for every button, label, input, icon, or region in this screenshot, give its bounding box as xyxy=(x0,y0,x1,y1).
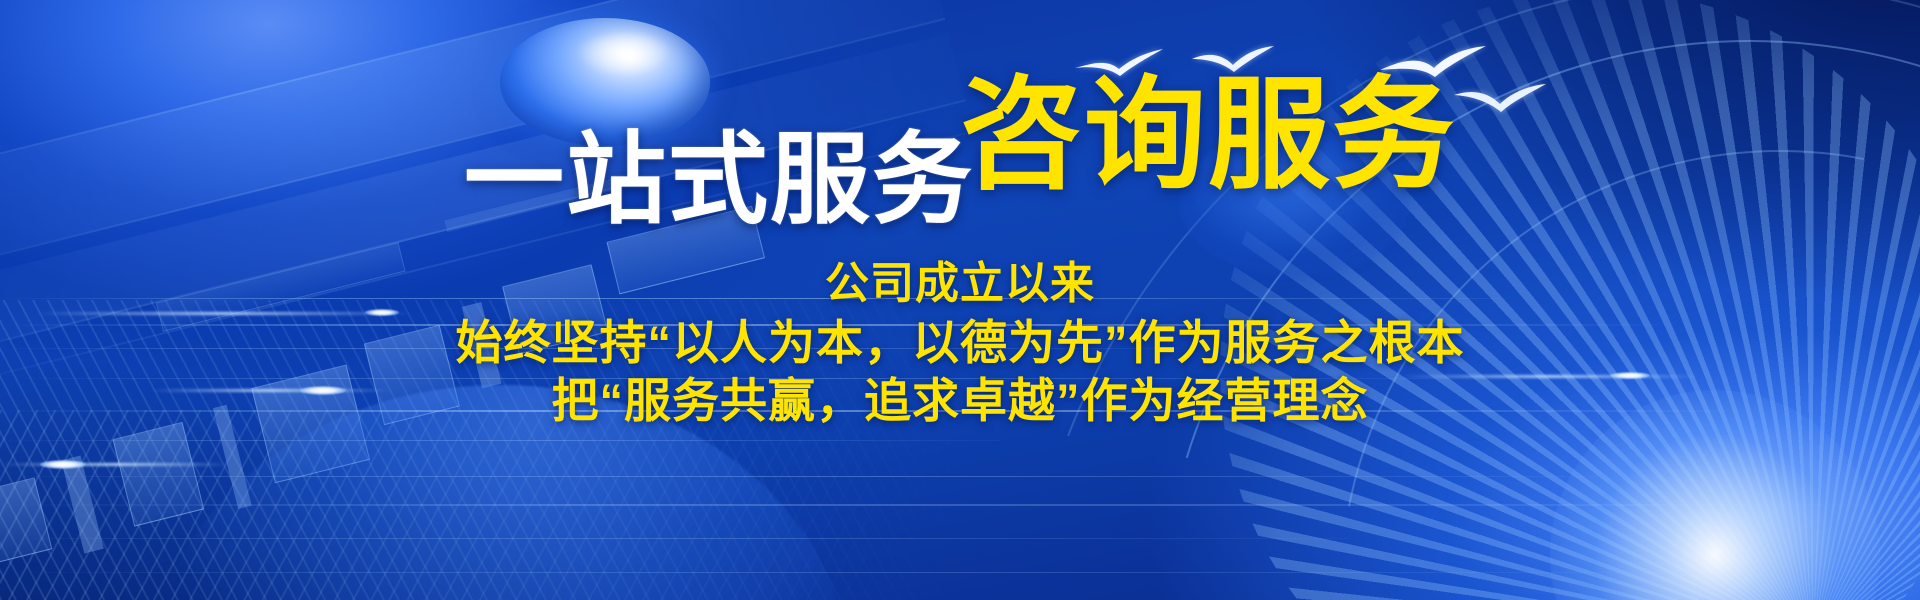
headline-primary-white: 一站式服务 xyxy=(464,130,974,230)
subtitle-line-3: 把“服务共赢，追求卓越”作为经营理念 xyxy=(0,373,1920,429)
corporate-service-banner: 一站式服务 咨询服务 公司成立以来 始终坚持“以人为本，以德为先”作为服务之根本… xyxy=(0,0,1920,600)
subtitle-line-2: 始终坚持“以人为本，以德为先”作为服务之根本 xyxy=(0,315,1920,371)
subtitle-block: 公司成立以来 始终坚持“以人为本，以德为先”作为服务之根本 把“服务共赢，追求卓… xyxy=(0,258,1920,430)
headline-row: 一站式服务 咨询服务 xyxy=(0,74,1920,196)
subtitle-line-1: 公司成立以来 xyxy=(0,258,1920,311)
headline-primary-yellow: 咨询服务 xyxy=(960,74,1456,196)
